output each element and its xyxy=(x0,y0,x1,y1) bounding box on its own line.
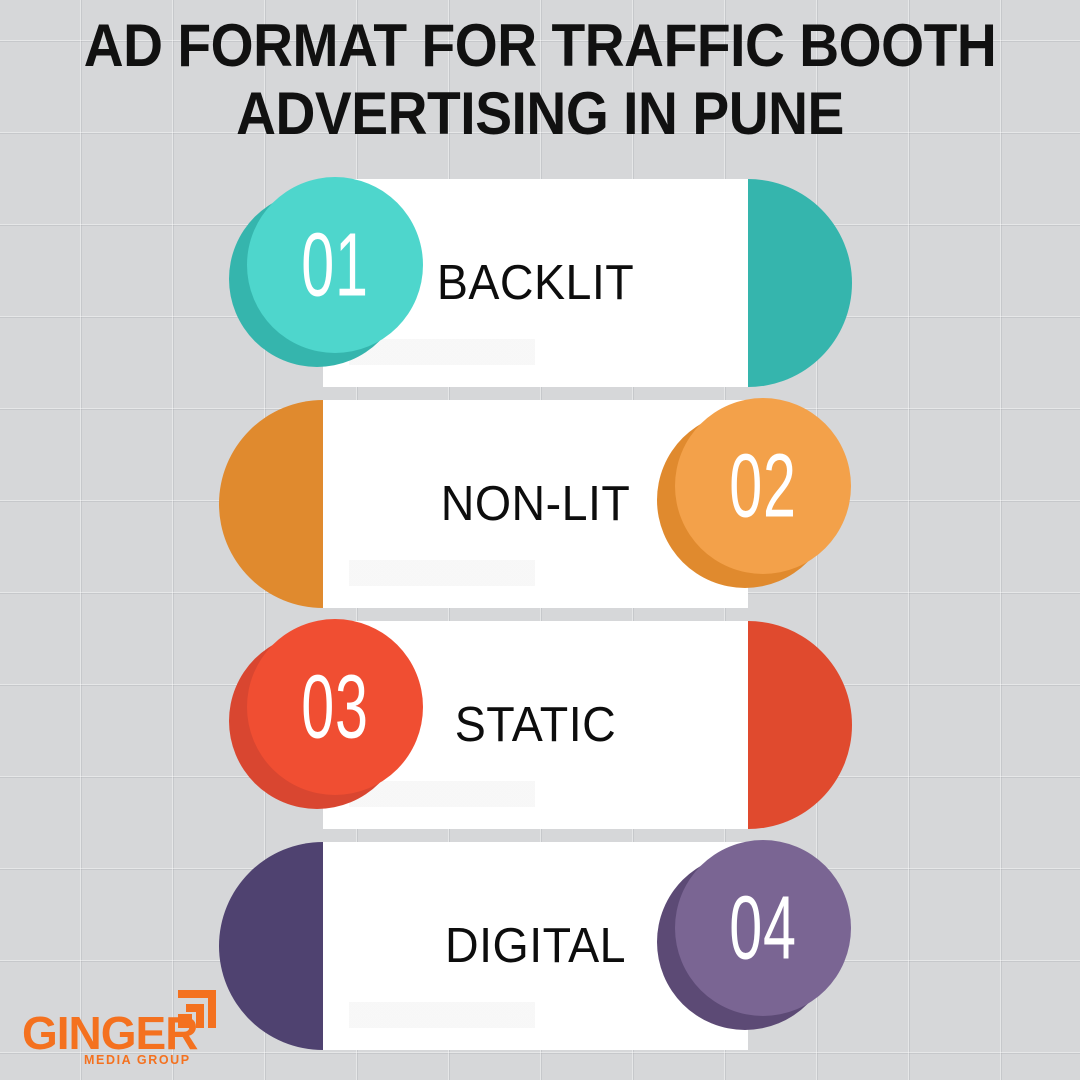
ginger-media-group-logo: GINGER MEDIA GROUP xyxy=(22,986,232,1068)
row-number-badge: 03 xyxy=(229,615,425,811)
row-number: 01 xyxy=(266,161,403,369)
ad-format-row: NON-LIT02 xyxy=(0,394,1080,615)
row-number-badge: 01 xyxy=(229,173,425,369)
ad-format-row: BACKLIT01 xyxy=(0,173,1080,394)
page-title: AD FORMAT FOR TRAFFIC BOOTH ADVERTISING … xyxy=(43,12,1037,148)
ad-format-row: STATIC03 xyxy=(0,615,1080,836)
row-number-badge: 02 xyxy=(657,394,853,590)
row-number-badge: 04 xyxy=(657,836,853,1032)
logo-brand-text: GINGER xyxy=(22,1010,197,1056)
row-number: 02 xyxy=(694,382,831,590)
logo-tagline-text: MEDIA GROUP xyxy=(84,1054,191,1066)
row-number: 04 xyxy=(694,824,831,1032)
ad-format-list: BACKLIT01NON-LIT02STATIC03DIGITAL04 xyxy=(0,173,1080,1057)
row-number: 03 xyxy=(266,603,403,811)
